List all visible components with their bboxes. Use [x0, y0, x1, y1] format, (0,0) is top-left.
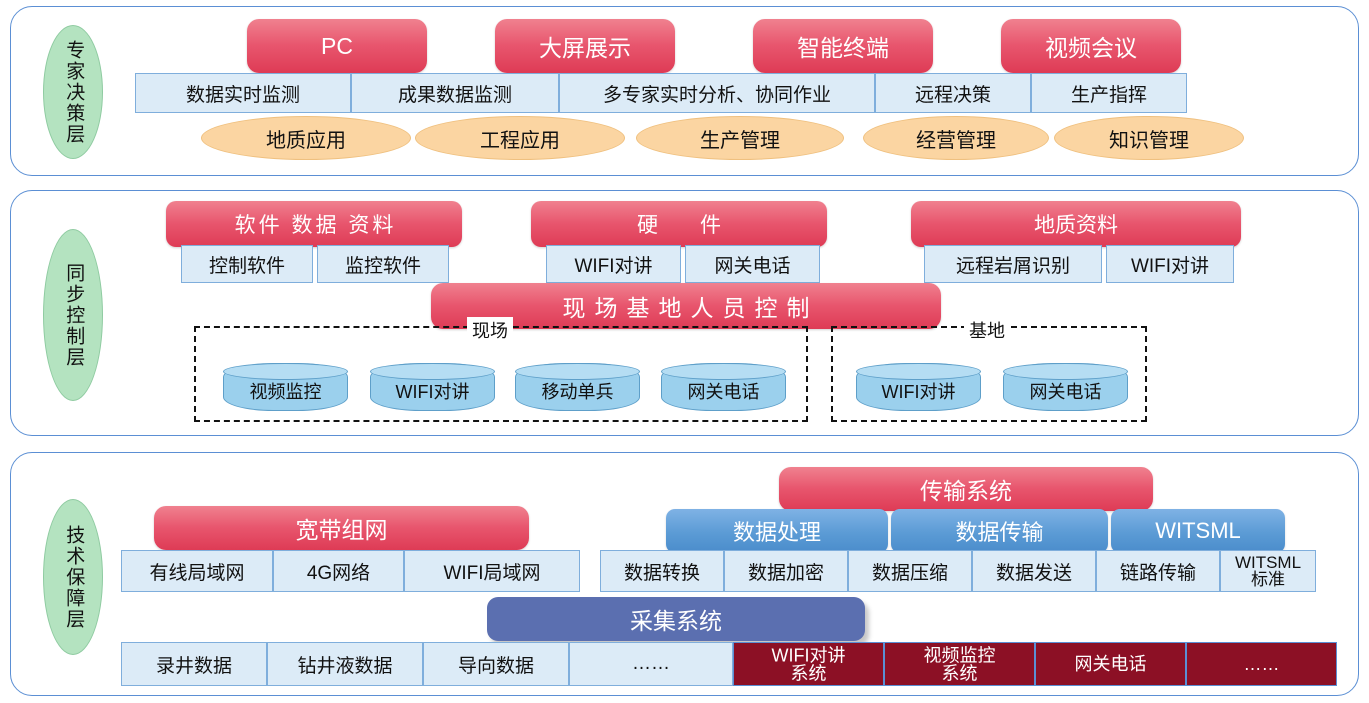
cell-wifi-lan[interactable]: WIFI局域网 [404, 550, 580, 592]
cylinder-wifi-intercom-base[interactable]: WIFI对讲 [856, 363, 981, 411]
cell-steering-data[interactable]: 导向数据 [423, 642, 569, 686]
cylinder-label: 网关电话 [1030, 378, 1102, 404]
header-collection-system[interactable]: 采集系统 [487, 597, 865, 641]
group-header-software-data-material[interactable]: 软件 数据 资料 [166, 201, 462, 247]
header-pc[interactable]: PC [247, 19, 427, 73]
cell-multi-expert-analysis[interactable]: 多专家实时分析、协同作业 [559, 73, 875, 113]
cell-monitor-software[interactable]: 监控软件 [317, 245, 449, 283]
cell-wifi-intercom-geo[interactable]: WIFI对讲 [1106, 245, 1234, 283]
cell-4g-network[interactable]: 4G网络 [273, 550, 404, 592]
cell-result-data-monitor[interactable]: 成果数据监测 [351, 73, 559, 113]
cell-data-compression[interactable]: 数据压缩 [848, 550, 972, 592]
cylinder-gateway-phone-site[interactable]: 网关电话 [661, 363, 786, 411]
layer-badge-technical-support: 技术保障层 [43, 499, 103, 655]
oval-geology-application[interactable]: 地质应用 [201, 116, 411, 160]
layer-expert-decision: 专家决策层 PC 大屏展示 智能终端 视频会议 数据实时监测 成果数据监测 多专… [10, 6, 1359, 176]
header-video-conference[interactable]: 视频会议 [1001, 19, 1181, 73]
cylinder-label: 移动单兵 [542, 378, 614, 404]
oval-knowledge-management[interactable]: 知识管理 [1054, 116, 1244, 160]
cell-production-command[interactable]: 生产指挥 [1031, 73, 1187, 113]
layer-sync-control: 同步控制层 软件 数据 资料 控制软件 监控软件 硬 件 WIFI对讲 网关电话… [10, 190, 1359, 436]
cell-remote-cuttings-id[interactable]: 远程岩屑识别 [924, 245, 1102, 283]
cell-line1: WITSML [1235, 554, 1301, 571]
cell-line2: 标准 [1251, 571, 1285, 588]
cylinder-label: WIFI对讲 [396, 378, 470, 404]
header-smart-terminal[interactable]: 智能终端 [753, 19, 933, 73]
cell-wifi-intercom-system[interactable]: WIFI对讲 系统 [733, 642, 884, 686]
cylinder-gateway-phone-base[interactable]: 网关电话 [1003, 363, 1128, 411]
cell-data-conversion[interactable]: 数据转换 [600, 550, 724, 592]
cell-data-sending[interactable]: 数据发送 [972, 550, 1096, 592]
cell-line1: WIFI对讲 [734, 646, 883, 664]
cylinder-label: 视频监控 [250, 378, 322, 404]
cell-line1: 视频监控 [885, 646, 1034, 664]
cell-wired-lan[interactable]: 有线局域网 [121, 550, 273, 592]
dark-cell-text: WIFI对讲 系统 [734, 646, 883, 683]
layer-badge-expert-decision: 专家决策层 [43, 25, 103, 159]
region-base-label: 基地 [964, 317, 1010, 343]
bar-data-processing[interactable]: 数据处理 [666, 509, 888, 553]
group-header-hardware[interactable]: 硬 件 [531, 201, 827, 247]
region-site-label: 现场 [467, 317, 513, 343]
cell-mud-logging-data[interactable]: 录井数据 [121, 642, 267, 686]
cell-witsml-standard[interactable]: WITSML 标准 [1220, 550, 1316, 592]
cylinder-mobile-soldier[interactable]: 移动单兵 [515, 363, 640, 411]
header-transmission-system[interactable]: 传输系统 [779, 467, 1153, 511]
cylinder-video-surveillance[interactable]: 视频监控 [223, 363, 348, 411]
cylinder-label: 网关电话 [688, 378, 760, 404]
group-header-geology-material[interactable]: 地质资料 [911, 201, 1241, 247]
cell-control-software[interactable]: 控制软件 [181, 245, 313, 283]
cell-line2: 系统 [734, 665, 883, 683]
bar-witsml[interactable]: WITSML [1111, 509, 1285, 553]
header-broadband-network[interactable]: 宽带组网 [154, 506, 529, 550]
dark-cell-text: 视频监控 系统 [885, 646, 1034, 683]
header-big-screen[interactable]: 大屏展示 [495, 19, 675, 73]
cell-video-surveillance-system[interactable]: 视频监控 系统 [884, 642, 1035, 686]
cell-realtime-data-monitor[interactable]: 数据实时监测 [135, 73, 351, 113]
oval-engineering-application[interactable]: 工程应用 [415, 116, 625, 160]
cell-gateway-phone-hw[interactable]: 网关电话 [685, 245, 820, 283]
cell-remote-decision[interactable]: 远程决策 [875, 73, 1031, 113]
cell-line2: 系统 [885, 665, 1034, 683]
bar-data-transmission[interactable]: 数据传输 [891, 509, 1108, 553]
cell-more-data[interactable]: …… [569, 642, 733, 686]
cylinder-wifi-intercom-site[interactable]: WIFI对讲 [370, 363, 495, 411]
cylinder-label: WIFI对讲 [882, 378, 956, 404]
oval-production-management[interactable]: 生产管理 [636, 116, 844, 160]
cell-drilling-fluid-data[interactable]: 钻井液数据 [267, 642, 423, 686]
cell-data-encryption[interactable]: 数据加密 [724, 550, 848, 592]
cell-gateway-phone-system[interactable]: 网关电话 [1035, 642, 1186, 686]
cell-more-systems[interactable]: …… [1186, 642, 1337, 686]
oval-business-management[interactable]: 经营管理 [863, 116, 1049, 160]
cell-wifi-intercom-hw[interactable]: WIFI对讲 [546, 245, 681, 283]
layer-badge-sync-control: 同步控制层 [43, 229, 103, 401]
cell-link-transmission[interactable]: 链路传输 [1096, 550, 1220, 592]
layer-technical-support: 技术保障层 传输系统 宽带组网 数据处理 数据传输 WITSML 有线局域网 4… [10, 452, 1359, 696]
